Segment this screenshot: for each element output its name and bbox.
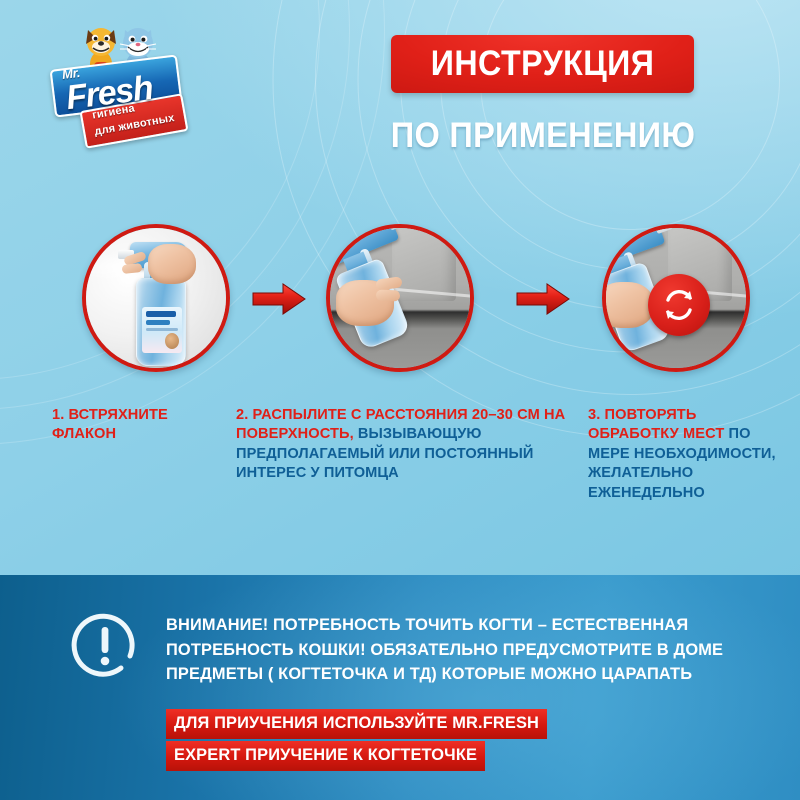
step-1-caption-red: 1. ВСТРЯХНИТЕ ФЛАКОН xyxy=(52,407,168,442)
page-title: ИНСТРУКЦИЯ xyxy=(431,44,655,84)
step-2-caption: 2. РАСПЫЛИТЕ С РАССТОЯНИЯ 20–30 СМ НА ПО… xyxy=(236,406,582,484)
step-3-caption-red: 3. ПОВТОРЯТЬ ОБРАБОТКУ МЕСТ xyxy=(588,407,724,442)
step-1-caption: 1. ВСТРЯХНИТЕ ФЛАКОН xyxy=(52,406,230,445)
step-2-image xyxy=(326,224,474,372)
page-title-banner: ИНСТРУКЦИЯ xyxy=(391,35,694,93)
refresh-repeat-icon xyxy=(659,285,699,325)
step-3-caption: 3. ПОВТОРЯТЬ ОБРАБОТКУ МЕСТ ПО МЕРЕ НЕОБ… xyxy=(588,406,788,503)
hand xyxy=(148,244,196,284)
step-3-image xyxy=(602,224,750,372)
step-1-image xyxy=(82,224,230,372)
page-subtitle: ПО ПРИМЕНЕНИЮ xyxy=(385,116,701,156)
repeat-badge xyxy=(648,274,710,336)
instruction-poster: Mr. Fresh гигиена для животных ИНСТРУКЦИ… xyxy=(0,0,800,800)
next-step-arrow-icon xyxy=(252,282,306,316)
warning-highlight-line-1: ДЛЯ ПРИУЧЕНИЯ ИСПОЛЬЗУЙТЕ MR.FRESH xyxy=(166,709,547,739)
warning-highlight-line-2: EXPERT ПРИУЧЕНИЕ К КОГТЕТОЧКЕ xyxy=(166,741,485,771)
warning-text: ВНИМАНИЕ! ПОТРЕБНОСТЬ ТОЧИТЬ КОГТИ – ЕСТ… xyxy=(166,613,778,687)
exclamation-circle-icon xyxy=(68,608,142,682)
next-step-arrow-icon xyxy=(516,282,570,316)
mr-fresh-logo: Mr. Fresh гигиена для животных xyxy=(52,22,184,150)
hand xyxy=(602,282,654,328)
